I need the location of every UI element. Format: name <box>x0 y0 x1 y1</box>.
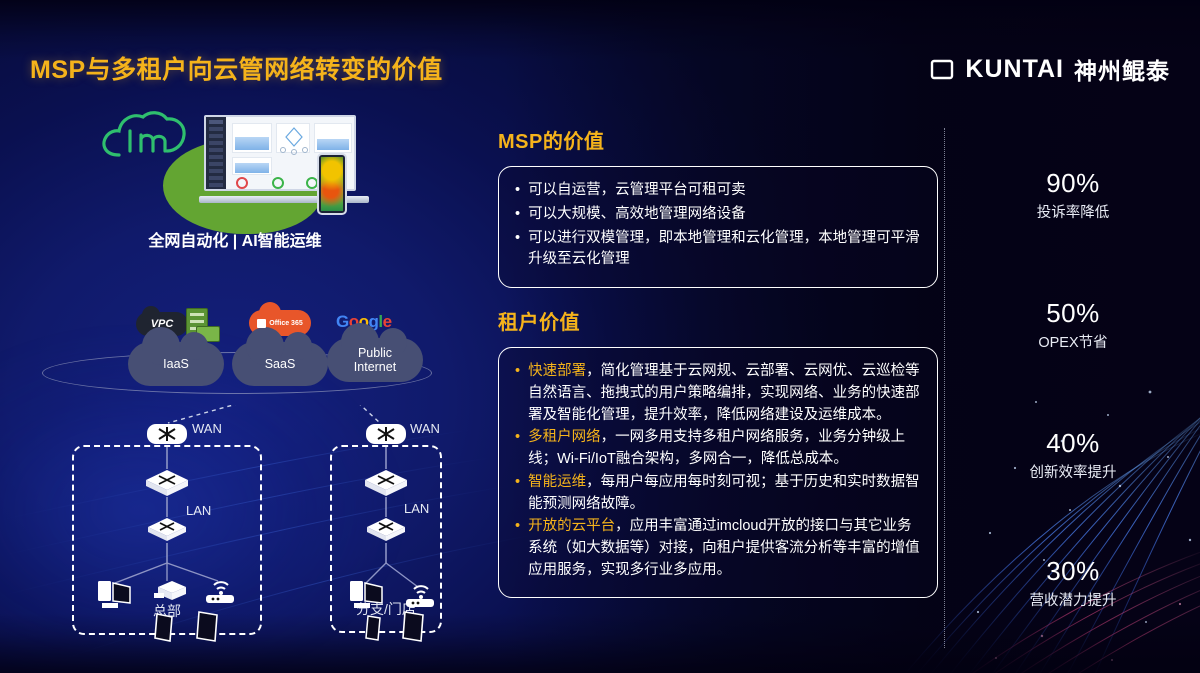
bullet-text: ，每用户每应用每时刻可视；基于历史和实时数据智能预测网络故障。 <box>528 474 920 512</box>
list-item: • 智能运维，每用户每应用每时刻可视；基于历史和实时数据智能预测网络故障。 <box>515 472 921 516</box>
switch-icon-branch-core <box>362 467 410 499</box>
section-title-tenant: 租户价值 <box>498 306 938 335</box>
stat-item: 40% 创新效率提升 <box>946 428 1200 482</box>
bullet-dot-icon: • <box>515 516 520 581</box>
im-cloud-logo-icon <box>97 105 189 167</box>
statistics-column: 90% 投诉率降低 50% OPEX节省 40% 创新效率提升 30% 营收潜力… <box>946 128 1200 648</box>
bullet-body: 开放的云平台，应用丰富通过imcloud开放的接口与其它业务系统（如大数据等）对… <box>528 516 921 581</box>
bullet-text: 可以自运营，云管理平台可租可卖 <box>528 180 746 202</box>
router-icon-hq <box>145 421 189 447</box>
phone-icon-branch <box>364 613 384 643</box>
lan-label-headquarters: LAN <box>186 503 211 518</box>
list-item: • 可以大规模、高效地管理网络设备 <box>515 204 921 226</box>
stat-value: 90% <box>946 168 1200 199</box>
bullet-keyword: 多租户网络 <box>528 429 601 445</box>
server-icon-hq <box>152 577 190 605</box>
cloud-node-public-internet: Public Internet <box>327 338 423 382</box>
tablet-icon-branch <box>400 609 428 645</box>
hero-caption: 全网自动化 | AI智能运维 <box>0 227 470 251</box>
cloud-node-saas: SaaS <box>232 342 328 386</box>
msp-value-card: • 可以自运营，云管理平台可租可卖 • 可以大规模、高效地管理网络设备 • 可以… <box>498 166 938 288</box>
desktop-icon-hq <box>96 577 136 611</box>
stat-item: 90% 投诉率降低 <box>946 168 1200 222</box>
office365-label: Office 365 <box>269 320 302 327</box>
switch-icon-hq-access <box>145 515 189 545</box>
cloud-node-iaas: IaaS <box>128 342 224 386</box>
network-topology: 总部 WAN LAN <box>0 405 470 665</box>
stat-label: 投诉率降低 <box>946 201 1200 222</box>
bullet-text: ，简化管理基于云网规、云部署、云网优、云巡检等自然语言、拖拽式的用户策略编排，实… <box>528 363 920 423</box>
bullet-dot-icon: • <box>515 361 520 426</box>
main-content-column: MSP的价值 • 可以自运营，云管理平台可租可卖 • 可以大规模、高效地管理网络… <box>498 125 938 598</box>
vertical-divider <box>944 128 945 648</box>
switch-icon-branch-access <box>364 515 408 545</box>
bullet-dot-icon: • <box>515 472 520 516</box>
stat-item: 30% 营收潜力提升 <box>946 556 1200 610</box>
stat-value: 40% <box>946 428 1200 459</box>
stat-label: 创新效率提升 <box>946 461 1200 482</box>
list-item: • 快速部署，简化管理基于云网规、云部署、云网优、云巡检等自然语言、拖拽式的用户… <box>515 361 921 426</box>
cloud-label-saas: SaaS <box>265 357 296 371</box>
cloud-label-public-line1: Public <box>354 346 396 360</box>
list-item: • 可以进行双模管理，即本地管理和云化管理，本地管理可平滑升级至云化管理 <box>515 228 921 272</box>
page-title: MSP与多租户向云管网络转变的价值 <box>30 50 443 86</box>
stat-value: 50% <box>946 298 1200 329</box>
brand-logo: KUNTAI 神州鲲泰 <box>929 52 1170 86</box>
wan-label-branch: WAN <box>410 421 440 436</box>
cloud-services-row: VPC Office 365 Google IaaS SaaS Public I… <box>0 300 470 410</box>
laptop-illustration <box>199 115 369 207</box>
stat-label: OPEX节省 <box>946 331 1200 352</box>
section-title-msp: MSP的价值 <box>498 125 938 154</box>
left-illustration-panel: 全网自动化 | AI智能运维 VPC Office 365 Google Iaa… <box>0 95 470 665</box>
vpc-badge-label: VPC <box>151 318 174 330</box>
wifi-ap-icon-hq <box>200 573 240 607</box>
bullet-keyword: 快速部署 <box>528 363 586 379</box>
stat-value: 30% <box>946 556 1200 587</box>
tablet-icon-hq-2 <box>194 609 222 645</box>
list-item: • 多租户网络，一网多用支持多租户网络服务，业务分钟级上线；Wi-Fi/IoT融… <box>515 427 921 471</box>
switch-icon-hq-core <box>143 467 191 499</box>
bullet-text: 可以进行双模管理，即本地管理和云化管理，本地管理可平滑升级至云化管理 <box>528 228 921 272</box>
cloud-label-public-line2: Internet <box>354 360 396 374</box>
wan-label-headquarters: WAN <box>192 421 222 436</box>
dashboard-sidebar <box>206 117 226 189</box>
bullet-body: 智能运维，每用户每应用每时刻可视；基于历史和实时数据智能预测网络故障。 <box>528 472 921 516</box>
bullet-keyword: 智能运维 <box>528 474 586 490</box>
bullet-body: 快速部署，简化管理基于云网规、云部署、云网优、云巡检等自然语言、拖拽式的用户策略… <box>528 361 921 426</box>
bullet-dot-icon: • <box>515 228 520 272</box>
router-icon-branch <box>364 421 408 447</box>
kuntai-mark-icon <box>929 56 955 82</box>
bullet-dot-icon: • <box>515 204 520 226</box>
wifi-ap-icon-branch <box>400 577 440 611</box>
phone-illustration <box>317 153 347 215</box>
list-item: • 开放的云平台，应用丰富通过imcloud开放的接口与其它业务系统（如大数据等… <box>515 516 921 581</box>
bullet-body: 多租户网络，一网多用支持多租户网络服务，业务分钟级上线；Wi-Fi/IoT融合架… <box>528 427 921 471</box>
stat-item: 50% OPEX节省 <box>946 298 1200 352</box>
hero-illustration <box>85 103 375 223</box>
phone-heatmap-screen <box>321 157 343 211</box>
list-item: • 可以自运营，云管理平台可租可卖 <box>515 180 921 202</box>
lan-label-branch: LAN <box>404 501 429 516</box>
stat-label: 营收潜力提升 <box>946 589 1200 610</box>
bullet-keyword: 开放的云平台 <box>528 518 615 534</box>
tablet-icon-hq-1 <box>152 611 176 645</box>
desktop-icon-branch <box>348 577 388 611</box>
logo-text-en: KUNTAI <box>965 55 1064 84</box>
bullet-text: 可以大规模、高效地管理网络设备 <box>528 204 746 226</box>
tenant-value-card: • 快速部署，简化管理基于云网规、云部署、云网优、云巡检等自然语言、拖拽式的用户… <box>498 347 938 598</box>
bullet-dot-icon: • <box>515 427 520 471</box>
logo-text-cn: 神州鲲泰 <box>1074 52 1170 86</box>
cloud-label-iaas: IaaS <box>163 357 189 371</box>
bullet-dot-icon: • <box>515 180 520 202</box>
